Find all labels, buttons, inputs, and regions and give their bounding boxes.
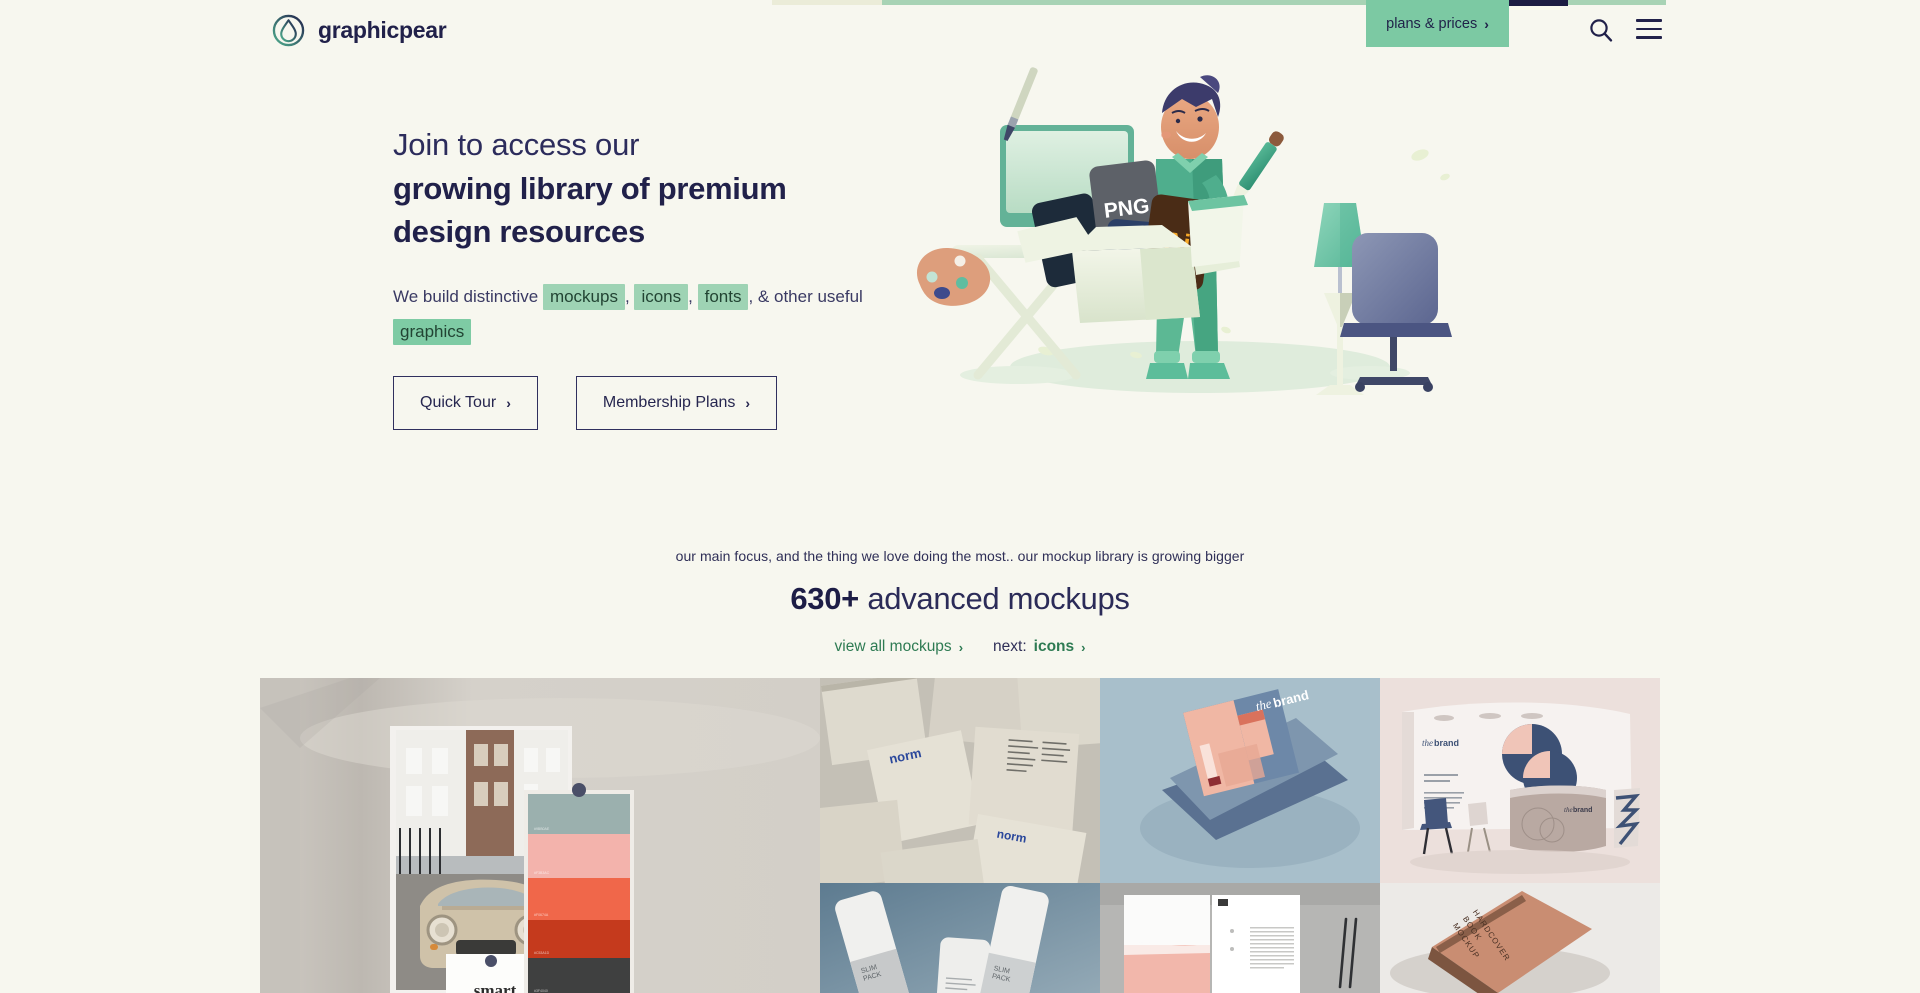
hamburger-menu-icon — [1636, 19, 1662, 39]
svg-text:the: the — [1422, 738, 1433, 748]
open-magazine — [1124, 895, 1300, 993]
hero-tag-graphics[interactable]: graphics — [393, 319, 471, 345]
tile-car-poster-mockup[interactable]: FIG 4092 smart — [260, 678, 820, 993]
brochure-rack — [1614, 788, 1640, 848]
svg-text:the: the — [1564, 806, 1573, 814]
chevron-right-icon: › — [1484, 17, 1489, 31]
svg-text:smart: smart — [474, 981, 517, 993]
hero-heading-line-1: Join to access our — [393, 125, 863, 166]
chevron-right-icon: › — [959, 640, 963, 655]
hero-sub-prefix: We build distinctive — [393, 287, 538, 306]
svg-text:#3F4040: #3F4040 — [534, 989, 548, 993]
svg-text:#C53A1D: #C53A1D — [534, 951, 550, 955]
hero-sub-mid: & other useful — [758, 287, 863, 306]
svg-text:brand: brand — [1434, 738, 1459, 748]
next-category-link[interactable]: next: icons › — [993, 638, 1085, 656]
next-category-label: icons — [1034, 638, 1074, 656]
chevron-right-icon: › — [1081, 640, 1085, 655]
mockups-headline-rest: advanced mockups — [859, 581, 1130, 616]
membership-plans-button[interactable]: Membership Plans › — [576, 376, 777, 430]
quick-tour-label: Quick Tour — [420, 394, 496, 412]
mockups-kicker: our main focus, and the thing we love do… — [0, 548, 1920, 564]
hero-copy: Join to access our growing library of pr… — [393, 125, 863, 430]
tile-slim-packaging[interactable]: SLIM PACK SLIM PACK — [820, 883, 1100, 993]
svg-text:#F3B3AC: #F3B3AC — [534, 871, 550, 875]
membership-plans-label: Membership Plans — [603, 394, 736, 412]
next-prefix: next: — [993, 638, 1027, 656]
hero-heading-line-2: growing library of premium — [393, 169, 863, 209]
hero-heading-line-3: design resources — [393, 212, 863, 252]
chevron-right-icon: › — [745, 395, 750, 411]
plans-and-prices-button[interactable]: plans & prices › — [1366, 0, 1509, 47]
quick-tour-button[interactable]: Quick Tour › — [393, 376, 538, 430]
mockup-gallery-grid: FIG 4092 smart — [260, 678, 1660, 993]
brand-wordmark: graphicpear — [318, 17, 446, 44]
tile-thebrand-brochure[interactable]: the brand — [1100, 678, 1380, 883]
tile-magazine-spread[interactable] — [1100, 883, 1380, 993]
mockups-links: view all mockups › next: icons › — [835, 638, 1086, 656]
svg-text:#F0674A: #F0674A — [534, 913, 549, 917]
tile-hardcover-book[interactable]: HARDCOVER BOOK MOCKUP — [1380, 883, 1660, 993]
pear-drop-logo-icon — [272, 14, 305, 47]
designer-with-box-illustration: Ps PNG JPG Ai — [900, 55, 1540, 405]
mockups-intro-section: our main focus, and the thing we love do… — [0, 548, 1920, 656]
brand-logo-link[interactable]: graphicpear — [272, 14, 446, 47]
menu-button[interactable] — [1636, 18, 1662, 40]
search-button[interactable] — [1588, 17, 1614, 43]
search-icon — [1588, 17, 1614, 43]
hero-button-group: Quick Tour › Membership Plans › — [393, 376, 863, 430]
svg-text:brand: brand — [1573, 807, 1592, 814]
pencil — [1228, 129, 1286, 206]
hero-tag-mockups[interactable]: mockups — [543, 284, 625, 310]
plans-button-label: plans & prices — [1386, 16, 1477, 32]
view-all-mockups-link[interactable]: view all mockups › — [835, 638, 964, 656]
hero-tag-fonts[interactable]: fonts — [698, 284, 749, 310]
mockups-headline: 630+ advanced mockups — [0, 581, 1920, 617]
color-palette-strip: #9BB0AE#F3B3AC #F0674A#C53A1D#3F4040 — [524, 783, 634, 993]
svg-text:#9BB0AE: #9BB0AE — [534, 827, 550, 831]
view-all-mockups-label: view all mockups — [835, 638, 952, 656]
tile-norm-box-mockup[interactable]: norm n — [820, 678, 1100, 883]
page-root: graphicpear plans & prices › Join to acc… — [0, 0, 1920, 993]
hero-tag-icons[interactable]: icons — [634, 284, 688, 310]
tile-thebrand-exhibition[interactable]: the brand the brand — [1380, 678, 1660, 883]
mockups-count: 630+ — [790, 581, 859, 616]
chevron-right-icon: › — [506, 395, 511, 411]
hero-subtitle: We build distinctive mockups, icons, fon… — [393, 279, 863, 349]
